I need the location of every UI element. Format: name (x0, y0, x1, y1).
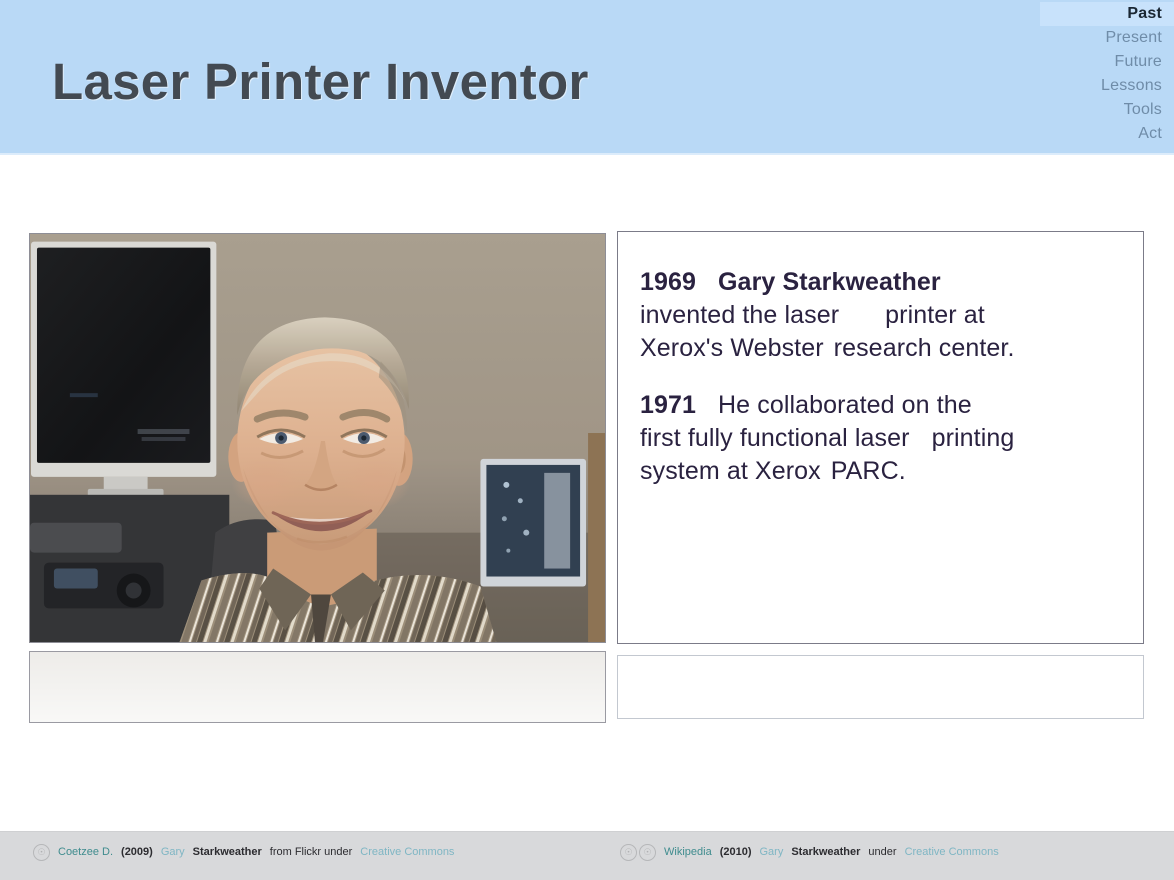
entry-year-1971: 1971 (640, 391, 696, 419)
entry-name-starkweather: Gary Starkweather (718, 268, 941, 296)
nav-item-present[interactable]: Present (1040, 26, 1174, 50)
photo-reflection (29, 651, 606, 723)
nav-item-future[interactable]: Future (1040, 50, 1174, 74)
credit-left-license[interactable]: Creative Commons (360, 846, 454, 859)
entry-year-1969: 1969 (640, 268, 696, 296)
creative-commons-icon: ☉ ☉ (620, 844, 656, 861)
credit-right: ☉ ☉ Wikipedia (2010) Gary Starkweather u… (620, 844, 999, 861)
credit-left: ☉ Coetzee D. (2009) Gary Starkweather fr… (33, 844, 454, 861)
entry-1969-line3b: research center. (834, 334, 1015, 362)
entry-1971-line2a: first fully functional laser (640, 424, 910, 452)
entry-1971-line3a: system at Xerox (640, 457, 821, 485)
inventor-photo (29, 233, 606, 643)
nav-item-act[interactable]: Act (1040, 122, 1174, 146)
entry-1971-line2b: printing (932, 424, 1015, 452)
credit-left-author: Coetzee D. (58, 846, 113, 859)
credit-left-source: from Flickr under (270, 846, 353, 859)
photo-illustration (30, 234, 605, 642)
content-entry-1969: 1969Gary Starkweather invented the laser… (640, 266, 1121, 365)
entry-1969-line2b: printer at (885, 301, 985, 329)
reflection-illustration (30, 722, 605, 723)
nav-item-lessons[interactable]: Lessons (1040, 74, 1174, 98)
credit-right-title: Starkweather (791, 846, 860, 859)
slide: Laser Printer Inventor Past Present Futu… (0, 0, 1174, 880)
credit-left-title: Starkweather (193, 846, 262, 859)
entry-1971-line1a: He collaborated on the (718, 391, 972, 419)
creative-commons-icon: ☉ (33, 844, 50, 861)
credit-left-year: (2009) (121, 846, 153, 859)
content-entry-1971: 1971He collaborated on the first fully f… (640, 389, 1121, 488)
content-text-box: 1969Gary Starkweather invented the laser… (617, 231, 1144, 644)
entry-1971-line3b: PARC. (831, 457, 906, 485)
entry-1969-line2a: invented the laser (640, 301, 839, 329)
footer-band: ☉ Coetzee D. (2009) Gary Starkweather fr… (0, 831, 1174, 880)
credit-right-source: under (868, 846, 896, 859)
nav-menu: Past Present Future Lessons Tools Act (1040, 0, 1174, 146)
credit-right-link[interactable]: Gary (759, 846, 783, 859)
credit-left-link[interactable]: Gary (161, 846, 185, 859)
entry-1969-line3a: Xerox's Webster (640, 334, 824, 362)
empty-placeholder-box[interactable] (617, 655, 1144, 719)
credit-right-license[interactable]: Creative Commons (905, 846, 999, 859)
credit-right-year: (2010) (720, 846, 752, 859)
page-title: Laser Printer Inventor (52, 52, 589, 111)
nav-item-tools[interactable]: Tools (1040, 98, 1174, 122)
nav-item-past[interactable]: Past (1040, 2, 1174, 26)
photo-reflection-inner (30, 722, 605, 723)
credit-right-author: Wikipedia (664, 846, 712, 859)
